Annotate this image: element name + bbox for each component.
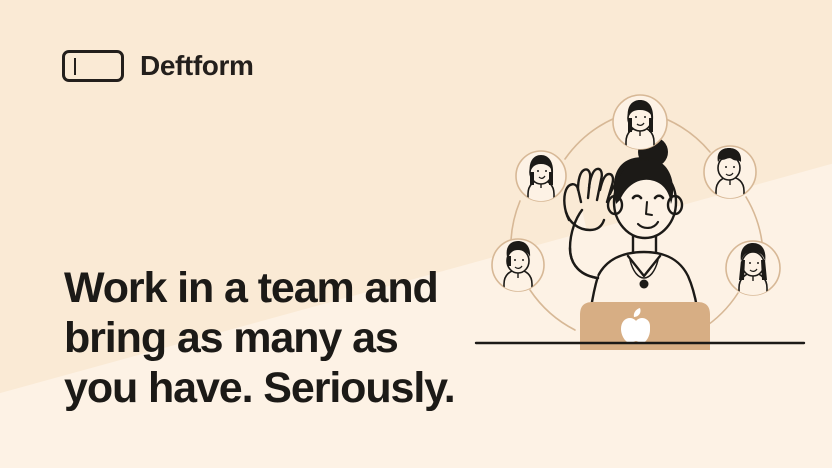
hero-headline: Work in a team and bring as many as you … bbox=[64, 264, 484, 414]
teammate-avatar-2 bbox=[516, 151, 566, 204]
headline-line-1: Work in a team and bbox=[64, 264, 438, 312]
headline-line-2: bring as many as bbox=[64, 314, 398, 362]
team-collaboration-illustration bbox=[470, 80, 810, 380]
teammate-avatar-3 bbox=[704, 146, 756, 201]
brand-name: Deftform bbox=[140, 52, 253, 80]
necklace-pendant bbox=[640, 280, 649, 289]
caret-bar bbox=[74, 58, 76, 75]
text-field-cursor-icon bbox=[62, 50, 124, 82]
figure-waving-arm bbox=[570, 210, 598, 278]
teammate-avatar-4 bbox=[492, 239, 544, 294]
hero-slide: Deftform Work in a team and bring as man… bbox=[0, 0, 832, 468]
brand-logo[interactable]: Deftform bbox=[62, 50, 253, 82]
headline-line-3: you have. Seriously. bbox=[64, 364, 455, 412]
teammate-avatar-5 bbox=[726, 241, 780, 298]
